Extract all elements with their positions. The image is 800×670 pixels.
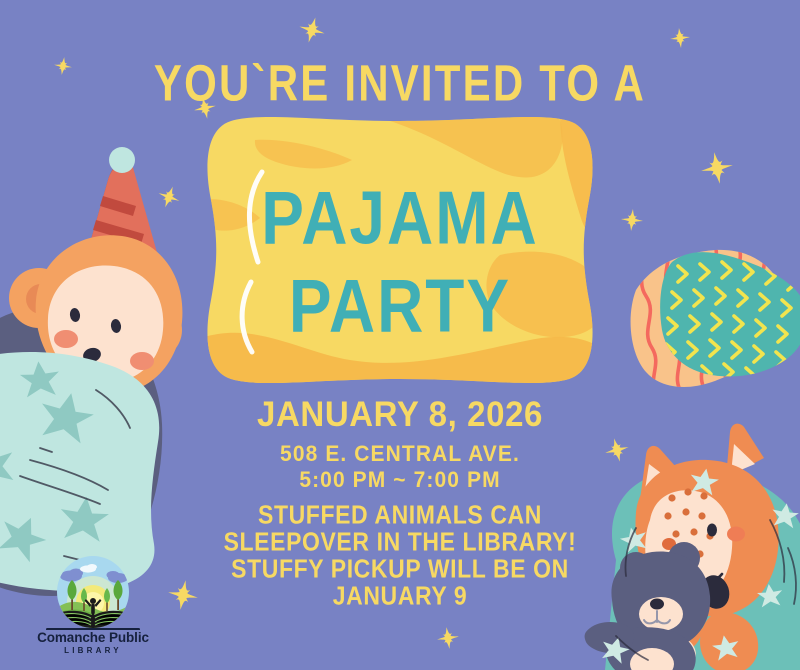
pillow-title-line-1: PAJAMA — [0, 180, 800, 256]
event-address: 508 E. CENTRAL AVE. — [0, 443, 800, 465]
event-detail-line: SLEEPOVER IN THE LIBRARY! — [0, 529, 800, 555]
page-title: YOU`RE INVITED TO A — [0, 58, 800, 109]
logo-subtitle: LIBRARY — [28, 646, 158, 655]
library-logo: Comanche Public LIBRARY — [28, 556, 158, 660]
pillow-title-line-2: PARTY — [0, 268, 800, 344]
event-time: 5:00 PM ~ 7:00 PM — [0, 469, 800, 491]
event-detail-line: STUFFED ANIMALS CAN — [0, 502, 800, 528]
pajama-party-poster: YOU`RE INVITED TO A PAJAMA PARTY JANUARY… — [0, 0, 800, 670]
event-date: JANUARY 8, 2026 — [0, 396, 800, 432]
logo-name: Comanche Public — [28, 630, 158, 645]
logo-emblem — [28, 556, 158, 630]
